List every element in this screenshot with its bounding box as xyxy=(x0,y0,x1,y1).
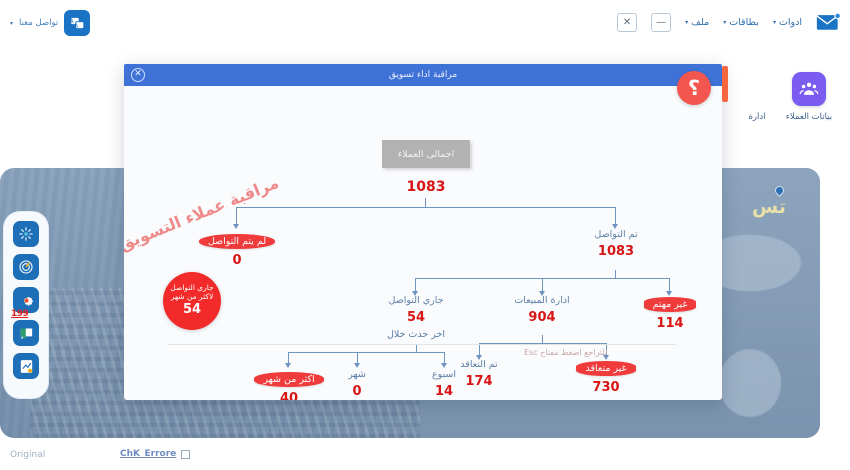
kpi-circle-long-pending: جارى التواصل لاكثر من شهر 54 xyxy=(163,272,221,330)
status-bar: Original ChK_Errore xyxy=(0,438,850,470)
app-launcher: بياتات العملاء ادارة xyxy=(744,72,838,122)
modal-body: مراقبة عملاء التسويق اجمالى العملاء 1083… xyxy=(124,86,722,400)
chk-errore-checkbox[interactable] xyxy=(181,450,190,459)
report-chart-icon[interactable] xyxy=(13,353,39,379)
connector-l1-right xyxy=(615,207,616,225)
esc-hint-text: للتراجع اضغط مفتاح Esc xyxy=(524,348,607,357)
brand-contact-us[interactable]: A A تواصل معنا ▾ xyxy=(10,10,90,36)
launcher-item-customers-data[interactable]: بياتات العملاء xyxy=(780,72,838,122)
node-not-interested-label: غير مهتم xyxy=(644,297,697,312)
node-not-contacted-label: لم يتم التواصل xyxy=(199,234,275,249)
chevron-down-icon: ▾ xyxy=(10,20,13,27)
left-dock: 199 xyxy=(4,212,48,398)
chevron-down-icon: ▾ xyxy=(773,19,776,26)
background-title: تس xyxy=(752,196,786,218)
node-sales-management-value: 904 xyxy=(492,310,592,325)
total-customers-value: 1083 xyxy=(396,179,456,195)
people-group-icon xyxy=(792,72,826,106)
connector-level1-bus xyxy=(236,207,616,208)
node-contacted: تم التواصل 1083 xyxy=(565,229,667,259)
app-root: A A تواصل معنا ▾ ادوات ▾ بطاقات ▾ xyxy=(0,0,850,470)
node-month-value: 0 xyxy=(313,384,401,399)
node-last-event: اخر حدث خلال xyxy=(366,329,466,340)
arrow-down-icon xyxy=(441,363,447,368)
launcher-item-management[interactable]: ادارة xyxy=(744,72,770,122)
kpi-circle-line2: لاكثر من شهر xyxy=(171,293,214,302)
chevron-down-icon: ▾ xyxy=(723,19,726,26)
total-customers-box: اجمالى العملاء xyxy=(382,140,470,168)
modal-title: مراقبة اداء تسويق xyxy=(389,70,457,80)
chevron-down-icon: ▾ xyxy=(685,19,688,26)
brand-label: تواصل معنا xyxy=(19,18,58,28)
menu-tools-label: ادوات xyxy=(779,17,802,28)
node-not-contracted: غير متعاقد 730 xyxy=(559,356,653,395)
modal-close-icon[interactable]: ✕ xyxy=(131,68,145,82)
launcher-label-customers-data: بياتات العملاء xyxy=(786,112,832,122)
node-week-value: 14 xyxy=(400,384,488,399)
top-menu: ادوات ▾ بطاقات ▾ ملف ▾ — ✕ xyxy=(617,12,842,32)
node-in-progress-value: 54 xyxy=(366,310,466,325)
arrow-down-icon xyxy=(354,363,360,368)
kpi-circle-value: 54 xyxy=(183,303,201,318)
notification-badge: 199 xyxy=(11,309,28,319)
status-original-label: Original xyxy=(10,450,45,460)
modal-title-bar: مراقبة اداء تسويق ✕ xyxy=(124,64,722,86)
node-not-contracted-value: 730 xyxy=(559,380,653,395)
node-contacted-value: 1083 xyxy=(565,244,667,259)
menu-tools[interactable]: ادوات ▾ xyxy=(773,17,802,28)
chk-errore-group[interactable]: ChK_Errore xyxy=(120,449,190,459)
node-sales-management: ادارة المبيعات 904 xyxy=(492,295,592,325)
node-not-contacted-value: 0 xyxy=(186,253,288,268)
node-last-event-label: اخر حدث خلال xyxy=(366,329,466,340)
node-in-progress: جاري التواصل 54 xyxy=(366,295,466,325)
node-contacted-label: تم التواصل xyxy=(565,229,667,240)
close-window-button[interactable]: ✕ xyxy=(617,13,637,32)
connector-l2-a xyxy=(415,278,416,292)
menu-file[interactable]: ملف ▾ xyxy=(685,17,709,28)
connector-l2-c xyxy=(669,278,670,292)
chk-errore-label: ChK_Errore xyxy=(120,449,176,459)
marketing-performance-modal: مراقبة اداء تسويق ✕ ؟ مراقبة عملاء التسو… xyxy=(124,64,722,400)
minimize-button[interactable]: — xyxy=(651,13,671,32)
node-in-progress-label: جاري التواصل xyxy=(366,295,466,306)
launcher-label-management: ادارة xyxy=(748,112,765,122)
node-month: شهر 0 xyxy=(313,369,401,399)
node-not-contracted-label: غير متعاقد xyxy=(576,361,635,376)
node-week: اسبوع 14 xyxy=(400,369,488,399)
node-not-contacted: لم يتم التواصل 0 xyxy=(186,229,288,268)
connector-level4-bus xyxy=(288,352,445,353)
translate-chat-icon: A A xyxy=(64,10,90,36)
menu-cards[interactable]: بطاقات ▾ xyxy=(723,17,759,28)
node-sales-management-label: ادارة المبيعات xyxy=(492,295,592,306)
node-week-label: اسبوع xyxy=(400,369,488,380)
footer-divider xyxy=(168,344,676,345)
top-bar: A A تواصل معنا ▾ ادوات ▾ بطاقات ▾ xyxy=(0,0,850,46)
connector-l2-b xyxy=(542,278,543,292)
node-not-interested: غير مهتم 114 xyxy=(620,292,720,331)
node-month-label: شهر xyxy=(313,369,401,380)
chat-bubble-icon[interactable]: 199 xyxy=(13,320,39,346)
menu-cards-label: بطاقات xyxy=(729,17,759,28)
menu-file-label: ملف xyxy=(691,17,709,28)
connector-l1-left xyxy=(236,207,237,225)
snowflake-icon[interactable] xyxy=(13,221,39,247)
map-pin-icon xyxy=(773,184,786,197)
node-not-interested-value: 114 xyxy=(620,316,720,331)
mail-envelope-icon[interactable] xyxy=(816,12,842,32)
orange-accent-strip xyxy=(722,66,728,102)
target-gauge-icon[interactable] xyxy=(13,254,39,280)
